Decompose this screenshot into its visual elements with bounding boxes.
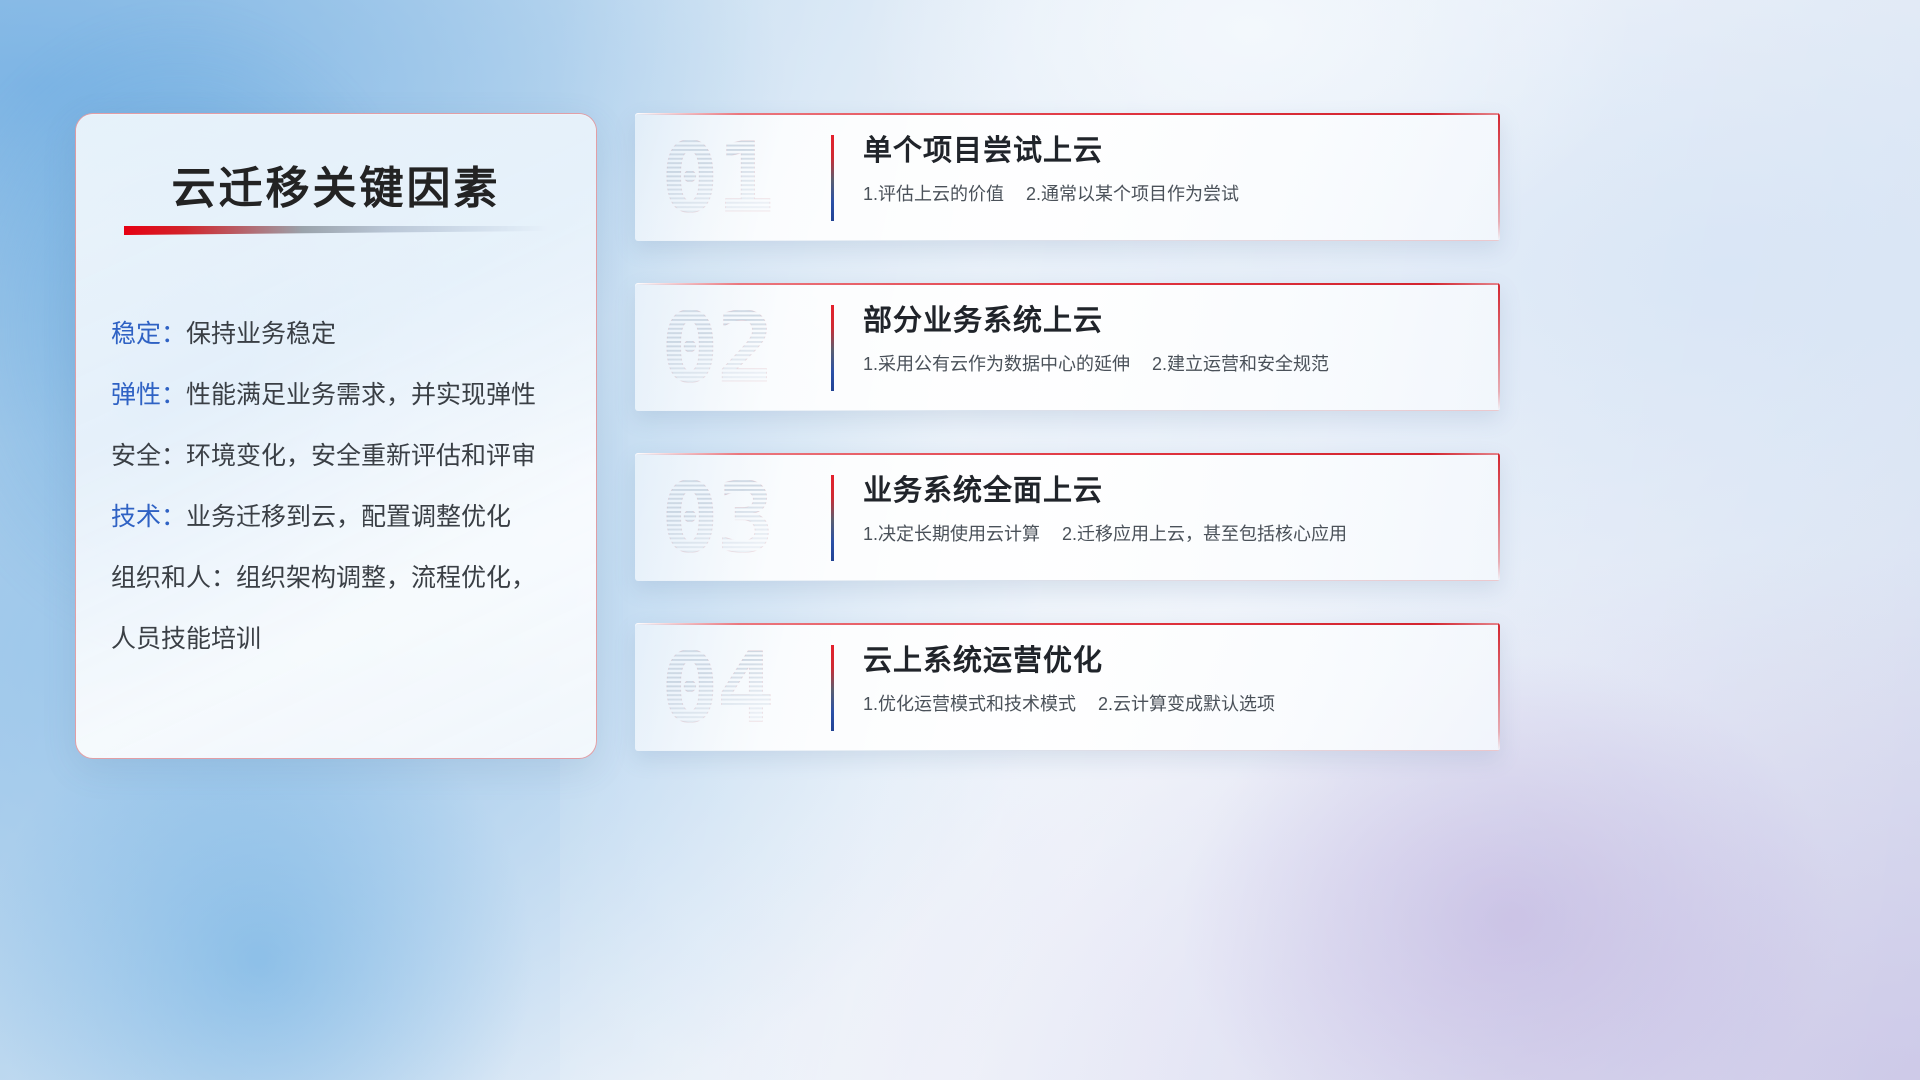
key-factor-row: 稳定：保持业务稳定 [111, 304, 572, 365]
title-underline-bar [124, 226, 549, 235]
key-factor-value: 性能满足业务需求，并实现弹性 [186, 381, 536, 409]
key-factor-label: 弹性： [111, 381, 186, 409]
key-factors-list: 稳定：保持业务稳定弹性：性能满足业务需求，并实现弹性安全：环境变化，安全重新评估… [111, 304, 572, 670]
card-vertical-divider [831, 305, 834, 391]
key-factor-value: 组织架构调整，流程优化， [236, 564, 536, 592]
card-top-accent-line [635, 113, 1500, 115]
card-subtitle: 1.决定长期使用云计算2.迁移应用上云，甚至包括核心应用 [863, 521, 1476, 547]
card-title: 部分业务系统上云 [863, 301, 1476, 341]
card-point-2: 2.建立运营和安全规范 [1152, 354, 1329, 374]
stage-number-graphic: 0303 [657, 467, 817, 567]
key-factor-row: 安全：环境变化，安全重新评估和评审 [111, 426, 572, 487]
card-point-1: 1.采用公有云作为数据中心的延伸 [863, 354, 1130, 374]
card-subtitle: 1.采用公有云作为数据中心的延伸2.建立运营和安全规范 [863, 351, 1476, 377]
migration-stage-card-list: 0101单个项目尝试上云1.评估上云的价值2.通常以某个项目作为尝试0202部分… [635, 113, 1500, 793]
card-vertical-divider [831, 645, 834, 731]
card-point-2: 2.通常以某个项目作为尝试 [1026, 184, 1239, 204]
card-right-accent-line [1498, 113, 1500, 241]
key-factors-panel: 云迁移关键因素 稳定：保持业务稳定弹性：性能满足业务需求，并实现弹性安全：环境变… [75, 113, 597, 759]
stage-number-graphic: 0202 [657, 297, 817, 397]
svg-text:03: 03 [661, 467, 773, 567]
card-point-2: 2.迁移应用上云，甚至包括核心应用 [1062, 524, 1347, 544]
card-point-1: 1.决定长期使用云计算 [863, 524, 1040, 544]
slide-canvas: 云迁移关键因素 稳定：保持业务稳定弹性：性能满足业务需求，并实现弹性安全：环境变… [0, 0, 1920, 1080]
svg-text:02: 02 [661, 297, 773, 397]
key-factor-row: 技术：业务迁移到云，配置调整优化 [111, 487, 572, 548]
card-title: 业务系统全面上云 [863, 471, 1476, 511]
card-title: 单个项目尝试上云 [863, 131, 1476, 171]
card-text-block: 部分业务系统上云1.采用公有云作为数据中心的延伸2.建立运营和安全规范 [863, 301, 1476, 377]
migration-stage-card[interactable]: 0404云上系统运营优化1.优化运营模式和技术模式2.云计算变成默认选项 [635, 623, 1500, 751]
key-factor-value: 环境变化，安全重新评估和评审 [186, 442, 536, 470]
svg-text:01: 01 [661, 127, 773, 227]
migration-stage-card[interactable]: 0202部分业务系统上云1.采用公有云作为数据中心的延伸2.建立运营和安全规范 [635, 283, 1500, 411]
card-top-accent-line [635, 623, 1500, 625]
card-point-1: 1.评估上云的价值 [863, 184, 1004, 204]
migration-stage-card[interactable]: 0303业务系统全面上云1.决定长期使用云计算2.迁移应用上云，甚至包括核心应用 [635, 453, 1500, 581]
card-bottom-line [635, 580, 1500, 581]
key-factor-value: 业务迁移到云，配置调整优化 [186, 503, 511, 531]
key-factor-label: 安全： [111, 442, 186, 470]
key-factor-row: 人员技能培训 [111, 609, 572, 670]
page-title: 云迁移关键因素 [76, 152, 596, 216]
card-point-2: 2.云计算变成默认选项 [1098, 694, 1275, 714]
card-text-block: 云上系统运营优化1.优化运营模式和技术模式2.云计算变成默认选项 [863, 641, 1476, 717]
migration-stage-card[interactable]: 0101单个项目尝试上云1.评估上云的价值2.通常以某个项目作为尝试 [635, 113, 1500, 241]
card-text-block: 业务系统全面上云1.决定长期使用云计算2.迁移应用上云，甚至包括核心应用 [863, 471, 1476, 547]
card-bottom-line [635, 240, 1500, 241]
card-right-accent-line [1498, 283, 1500, 411]
card-vertical-divider [831, 475, 834, 561]
key-factor-label: 稳定： [111, 320, 186, 348]
card-top-accent-line [635, 283, 1500, 285]
stage-number-graphic: 0404 [657, 637, 817, 737]
card-right-accent-line [1498, 453, 1500, 581]
key-factor-value: 人员技能培训 [111, 625, 261, 653]
card-subtitle: 1.评估上云的价值2.通常以某个项目作为尝试 [863, 181, 1476, 207]
card-vertical-divider [831, 135, 834, 221]
key-factor-label: 技术： [111, 503, 186, 531]
card-title: 云上系统运营优化 [863, 641, 1476, 681]
key-factor-value: 保持业务稳定 [186, 320, 336, 348]
card-point-1: 1.优化运营模式和技术模式 [863, 694, 1076, 714]
card-right-accent-line [1498, 623, 1500, 751]
card-bottom-line [635, 410, 1500, 411]
stage-number-graphic: 0101 [657, 127, 817, 227]
key-factor-row: 弹性：性能满足业务需求，并实现弹性 [111, 365, 572, 426]
card-text-block: 单个项目尝试上云1.评估上云的价值2.通常以某个项目作为尝试 [863, 131, 1476, 207]
key-factor-label: 组织和人： [111, 564, 236, 592]
svg-text:04: 04 [661, 637, 773, 737]
key-factor-row: 组织和人：组织架构调整，流程优化， [111, 548, 572, 609]
card-bottom-line [635, 750, 1500, 751]
card-subtitle: 1.优化运营模式和技术模式2.云计算变成默认选项 [863, 691, 1476, 717]
card-top-accent-line [635, 453, 1500, 455]
